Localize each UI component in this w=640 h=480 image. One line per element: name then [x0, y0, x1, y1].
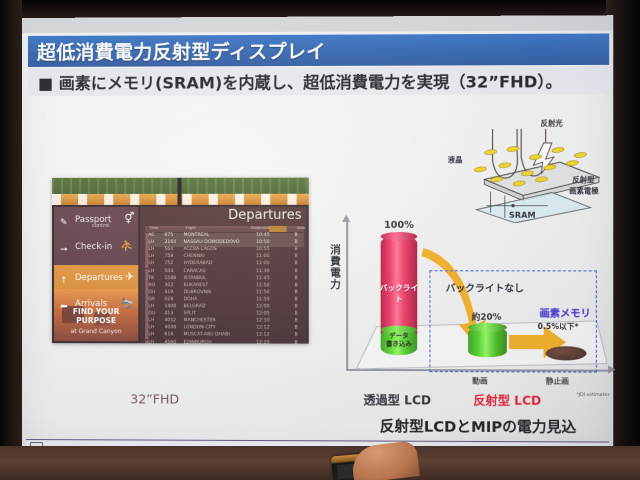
sign-row-arrivals: ⬅ Arrivals 🛬 — [58, 293, 136, 318]
sign-label-checkin: Check-in — [75, 242, 112, 252]
flight-number: 1408 — [164, 304, 176, 309]
flight-airline: LH — [148, 254, 154, 259]
left-arrow-icon: ⬅ — [60, 302, 68, 312]
flight-airline: TK — [148, 276, 154, 281]
flight-number: 4560 — [164, 340, 176, 344]
flight-gate: B — [295, 283, 298, 288]
slide-top-strip — [22, 15, 613, 33]
x-tick-label-still: 静止画 — [546, 376, 569, 387]
presentation-slide: 超低消費電力反射型ディスプレイ ■ 画素にメモリ(SRAM)を内蔵し、超低消費電… — [22, 15, 613, 461]
flight-gate: B — [295, 319, 298, 324]
plane-departure-icon: ✈ — [125, 270, 134, 283]
screen-frame-left — [0, 0, 22, 480]
bullet-text: ■ 画素にメモリ(SRAM)を内蔵し、超低消費電力を実現（32”FHD）。 — [38, 68, 562, 94]
departures-board-title: Departures — [228, 208, 301, 223]
chart-y-axis-label: 消費電力 — [328, 244, 343, 290]
restroom-icon: ⚥ — [124, 212, 134, 225]
bar-value-label-100: 100% — [373, 220, 426, 231]
flight-time: 11:45 — [256, 276, 269, 281]
bar-video-cylinder — [468, 327, 507, 357]
sign-row-checkin: ➞ Check-in ⛹ — [58, 236, 136, 261]
airport-display-photo: FIND YOUR PURPOSE at Grand Canyon ✎ Pass… — [52, 178, 309, 344]
flight-destination: ACCRA-LAGOS — [184, 247, 217, 252]
flight-airline: LH — [148, 261, 154, 266]
diagram-label-reflective: 反射型 — [572, 175, 594, 185]
flight-number: 028 — [164, 297, 173, 302]
flight-number: 758 — [164, 254, 173, 259]
flight-time: 11:00 — [256, 262, 269, 267]
flight-time: 12:00 — [256, 304, 269, 309]
flight-destination: BUKAREST — [184, 283, 209, 288]
flight-number: 618 — [164, 333, 173, 338]
sign-label-departures: Departures — [75, 273, 123, 283]
sign-row-passport: ✎ Passport control ⚥ — [58, 209, 136, 234]
flight-time: 12:12 — [256, 326, 269, 331]
flight-time: 10:50 — [256, 240, 269, 245]
flight-gate: B — [295, 304, 298, 309]
power-consumption-chart: 消費電力 100% バックライト データ 書き込み — [324, 214, 614, 391]
diagram-svg — [446, 116, 615, 222]
flight-airline: LH — [148, 240, 154, 245]
diagram-label-pixel-electrode: 画素電極 — [569, 186, 598, 196]
flight-destination: MONTREAL — [184, 233, 210, 238]
flight-airline: LH — [148, 318, 154, 323]
flight-destination: SPLIT — [184, 311, 197, 316]
group-label-transmissive-lcd: 透過型 LCD — [363, 391, 431, 408]
flight-gate: B — [295, 333, 298, 338]
departures-board: Departures Time Flight Destination Gate … — [140, 207, 306, 344]
flight-airline: LH — [148, 304, 154, 309]
flight-number: 1588 — [164, 276, 176, 281]
flight-time: 10:45 — [256, 233, 269, 238]
flight-number: 302 — [164, 283, 173, 288]
flight-time: 11:50 — [256, 283, 269, 288]
right-arrow-icon: ➞ — [60, 245, 68, 255]
flight-number: 4008 — [164, 326, 176, 331]
flight-destination: CARACAS — [184, 269, 206, 274]
foreground-desk — [0, 446, 640, 480]
flight-time: 12:10 — [256, 319, 269, 324]
pixel-memory-annotation: 画素メモリ — [540, 305, 591, 320]
col-header-status-highlight — [269, 226, 286, 232]
bar-data-write-label-2: 書き込み — [376, 339, 423, 348]
bar-still-image-dot — [546, 346, 587, 360]
flight-row: LH4560EDINBURGH12:20B — [145, 340, 303, 344]
flight-airline: LH — [148, 269, 154, 274]
flight-gate: B — [295, 269, 298, 274]
airport-wayfinding-sign: FIND YOUR PURPOSE at Grand Canyon ✎ Pass… — [54, 207, 138, 341]
flight-destination: BELGRAD — [184, 304, 206, 309]
bar-value-label-05: 0.5%以下* — [538, 321, 579, 332]
photo-panel-split — [177, 178, 181, 205]
flight-gate: B — [295, 326, 298, 331]
flight-gate: B — [295, 290, 298, 295]
checkin-desk-icon: ⛹ — [120, 239, 134, 252]
page-title: 超低消費電力反射型ディスプレイ — [37, 37, 326, 65]
col-header-gate: Gate — [297, 226, 306, 230]
flight-number: 4052 — [164, 318, 176, 323]
bar-video-top — [468, 323, 507, 332]
flight-time: 11:55 — [256, 297, 269, 302]
flight-destination: MANCHESTER — [184, 318, 216, 323]
advert-subline: at Grand Canyon — [55, 328, 137, 335]
group-label-reflective-lcd: 反射型 LCD — [473, 391, 541, 408]
flight-destination: ISTANBUL — [184, 276, 207, 281]
photo-caption: 32”FHD — [130, 391, 179, 406]
flight-destination: MUSCAT-ABU DHABI — [184, 333, 230, 338]
bar-value-label-20: 約20% — [454, 311, 519, 323]
bar-data-write: データ 書き込み — [381, 329, 418, 355]
flight-gate: B — [295, 247, 298, 252]
sign-label-arrivals: Arrivals — [75, 299, 107, 309]
flight-airline: LH — [148, 247, 154, 252]
flight-number: 752 — [164, 261, 173, 266]
flight-destination: HYDERABAD — [184, 261, 213, 266]
flight-airline: QR — [148, 297, 155, 302]
flight-gate: B — [295, 276, 298, 281]
flight-airline: LH — [148, 326, 154, 331]
flight-gate: B — [295, 240, 298, 245]
flight-airline: OU — [148, 311, 155, 316]
flight-airline: AC — [148, 233, 154, 238]
flight-gate: B — [295, 312, 298, 317]
flight-time: 11:30 — [256, 269, 269, 274]
no-backlight-annotation: バックライトなし — [446, 280, 524, 294]
flight-time: 11:50 — [256, 290, 269, 295]
sign-sublabel-control: control — [92, 223, 109, 229]
flight-destination: NASSAU-DOMODEDOVO — [184, 240, 240, 245]
flight-destination: CHENNAI — [184, 254, 205, 259]
flight-time: 12:12 — [256, 333, 269, 338]
projection-room: 超低消費電力反射型ディスプレイ ■ 画素にメモリ(SRAM)を内蔵し、超低消費電… — [0, 0, 640, 480]
chart-caption: 反射型LCDとMIPの電力見込 — [380, 415, 577, 437]
pen-arrow-icon: ✎ — [60, 218, 68, 228]
x-tick-label-video: 動画 — [472, 375, 487, 386]
estimate-footnote: *JDI estimates — [576, 393, 609, 398]
slide-title-band: 超低消費電力反射型ディスプレイ — [28, 32, 609, 67]
pixel-structure-diagram: 反射光 液晶 反射型 画素電極 SRAM — [446, 116, 615, 222]
flight-number: 413 — [164, 311, 173, 316]
departures-board-header: Time Flight Destination Gate — [145, 226, 303, 232]
flight-number: 419 — [164, 290, 173, 295]
flight-destination: LONDON-CITY — [184, 326, 216, 331]
flight-gate: B — [295, 262, 298, 267]
flight-airline: OU — [148, 290, 155, 295]
flight-time: 12:20 — [256, 340, 269, 344]
flight-gate: B — [295, 297, 298, 302]
flight-number: 564 — [164, 247, 173, 252]
flight-number: 504 — [164, 269, 173, 274]
flight-airline: LH — [148, 333, 154, 338]
up-arrow-icon: ↑ — [60, 276, 68, 286]
flight-time: 10:55 — [256, 247, 269, 252]
y-axis-line — [346, 220, 348, 369]
sign-row-departures: ↑ Departures ✈ — [58, 267, 136, 292]
col-header-time: Time — [149, 226, 158, 230]
plane-arrival-icon: 🛬 — [120, 296, 134, 309]
col-header-flight: Flight — [186, 226, 196, 230]
diagram-label-reflected-light: 反射光 — [541, 119, 563, 129]
flight-gate: B — [295, 254, 298, 259]
bar-backlight-label: バックライト — [377, 282, 422, 304]
flight-number: 2164 — [164, 240, 176, 245]
bar-backlight-top — [381, 232, 418, 241]
flight-number: 875 — [164, 233, 173, 238]
diagram-label-liquid-crystal: 液晶 — [448, 155, 463, 165]
flight-time: 12:05 — [256, 311, 269, 316]
flight-row: LH752HYDERABAD11:00B — [145, 261, 303, 268]
flight-time: 11:00 — [256, 254, 269, 259]
flight-gate: B — [295, 233, 298, 238]
x-axis-arrowhead — [608, 366, 615, 374]
flight-airline: LH — [148, 340, 154, 344]
flight-destination: DUBROVNIK — [184, 290, 212, 295]
slide-bullet-row: ■ 画素にメモリ(SRAM)を内蔵し、超低消費電力を実現（32”FHD）。 — [28, 66, 609, 96]
flight-destination: EDINBURGH — [184, 340, 212, 344]
flight-gate: B — [295, 340, 298, 344]
flight-destination: DOHA — [184, 297, 198, 302]
flight-airline: RO — [148, 283, 155, 288]
